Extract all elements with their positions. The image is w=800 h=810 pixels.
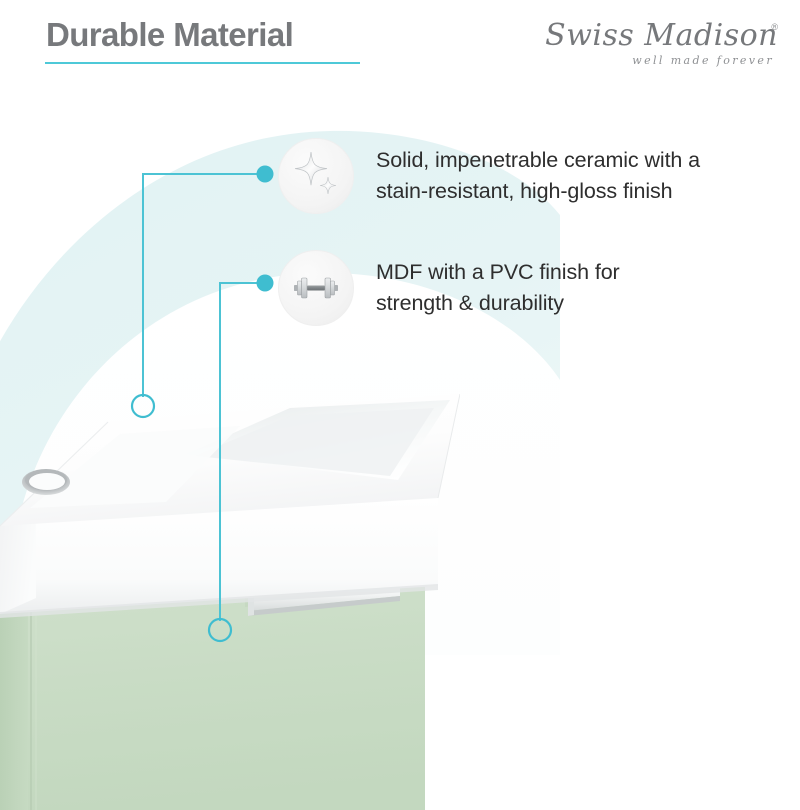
feature-item-mdf: MDF with a PVC finish for strength & dur… xyxy=(278,250,620,326)
ceramic-sink xyxy=(0,394,460,618)
page-title: Durable Material xyxy=(46,16,293,54)
brand-logo: Swiss Madison ® well made forever xyxy=(538,18,778,70)
brand-name: Swiss Madison xyxy=(538,18,778,53)
feature-badge-mdf xyxy=(278,250,354,326)
vanity-product-image xyxy=(0,330,460,810)
dumbbell-icon xyxy=(289,261,343,315)
infographic-canvas: Durable Material Swiss Madison ® well ma… xyxy=(0,0,800,800)
brand-tagline: well made forever xyxy=(632,54,774,67)
title-underline-rule xyxy=(45,62,360,64)
feature-badge-ceramic xyxy=(278,138,354,214)
feature-item-ceramic: Solid, impenetrable ceramic with a stain… xyxy=(278,138,700,214)
header: Durable Material Swiss Madison ® well ma… xyxy=(0,0,800,80)
registered-trademark-icon: ® xyxy=(771,22,778,32)
vanity-cabinet xyxy=(0,580,425,810)
feature-text-mdf: MDF with a PVC finish for strength & dur… xyxy=(376,257,620,319)
feature-text-ceramic: Solid, impenetrable ceramic with a stain… xyxy=(376,145,700,207)
sparkle-shine-icon xyxy=(290,150,342,202)
